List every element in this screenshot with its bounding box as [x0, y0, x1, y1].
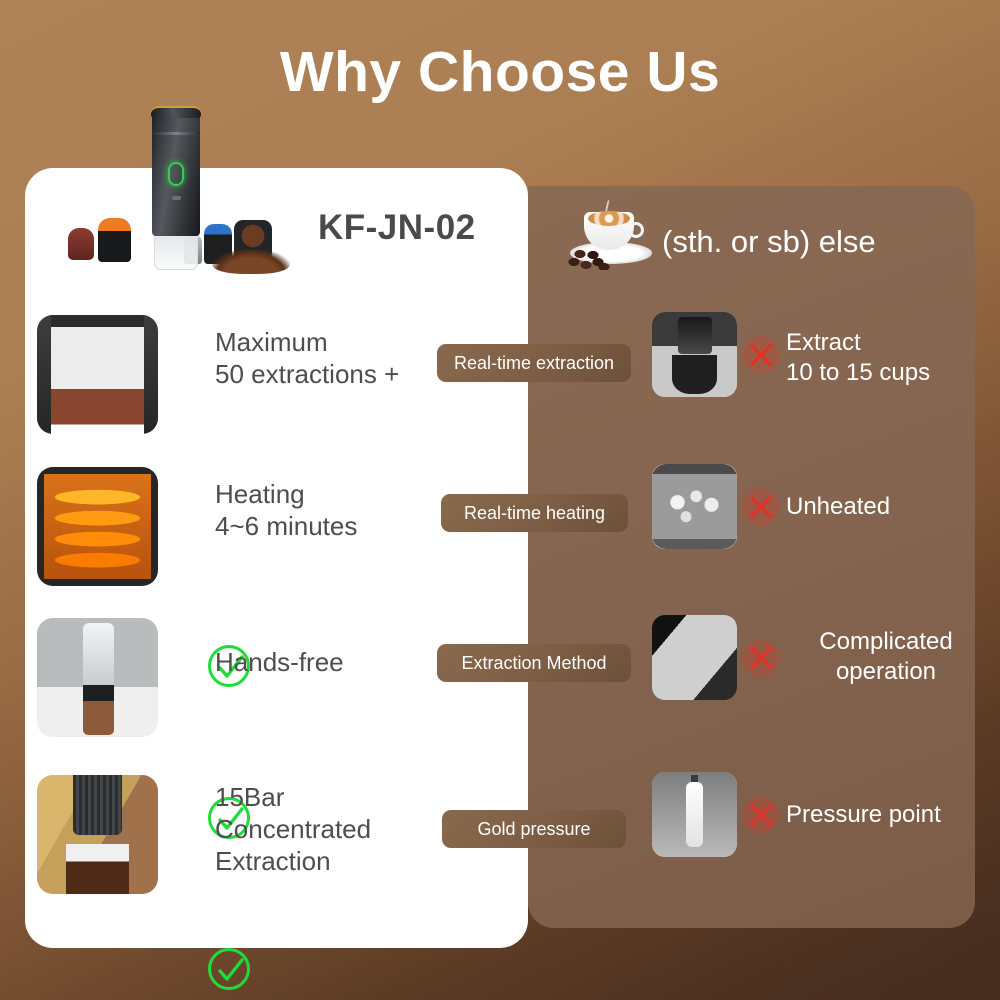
competitor-label: (sth. or sb) else — [662, 224, 876, 260]
thumbnail-espresso-pour — [37, 775, 158, 894]
thumbnail-cold-water — [652, 464, 737, 549]
cross-icon — [742, 336, 780, 374]
cross-icon — [742, 796, 780, 834]
machine-indicator-dot — [172, 196, 181, 200]
comparison-label-3: Extraction Method — [437, 644, 631, 682]
feature-left-text-3: Hands-free — [215, 646, 344, 678]
coffee-cup-icon — [566, 200, 658, 272]
feature-left-text-2: Heating 4~6 minutes — [215, 478, 357, 542]
thumbnail-coffee-carafe — [37, 315, 158, 434]
coffee-grounds-icon — [212, 250, 290, 274]
feature-right-text-3: Complicated operation — [786, 627, 986, 687]
feature-right-text-4: Pressure point — [786, 800, 941, 830]
feature-left-text-4: 15Bar Concentrated Extraction — [215, 781, 371, 878]
feature-left-text-1: Maximum 50 extractions + — [215, 326, 399, 390]
cross-icon — [742, 639, 780, 677]
feature-right-text-2: Unheated — [786, 492, 890, 522]
latte-art-shape — [588, 211, 630, 226]
thumbnail-hands-free-brewing — [37, 618, 158, 737]
capsule-red-icon — [68, 228, 94, 260]
why-choose-us-comparison-infographic: Why Choose Us KF-JN-02 (sth. or sb) else — [0, 0, 1000, 1000]
power-led-icon — [168, 162, 184, 186]
page-title: Why Choose Us — [0, 44, 1000, 101]
check-icon — [208, 948, 250, 990]
cross-icon — [742, 488, 780, 526]
feature-right-text-1: Extract 10 to 15 cups — [786, 328, 930, 388]
machine-glass-chamber — [154, 232, 198, 270]
thumbnail-hand-pumping — [652, 772, 737, 857]
thumbnail-hand-pressing — [652, 615, 737, 700]
thumbnail-manual-press — [652, 312, 737, 397]
comparison-label-2: Real-time heating — [441, 494, 628, 532]
portable-espresso-machine-icon — [62, 108, 292, 268]
product-model-name: KF-JN-02 — [318, 208, 476, 248]
comparison-label-4: Gold pressure — [442, 810, 626, 848]
comparison-label-1: Real-time extraction — [437, 344, 631, 382]
coffee-beans-icon — [566, 246, 612, 270]
capsule-orange-icon — [98, 218, 131, 262]
thumbnail-heating-coils — [37, 467, 158, 586]
machine-ring — [152, 132, 200, 135]
machine-cap — [151, 106, 201, 118]
